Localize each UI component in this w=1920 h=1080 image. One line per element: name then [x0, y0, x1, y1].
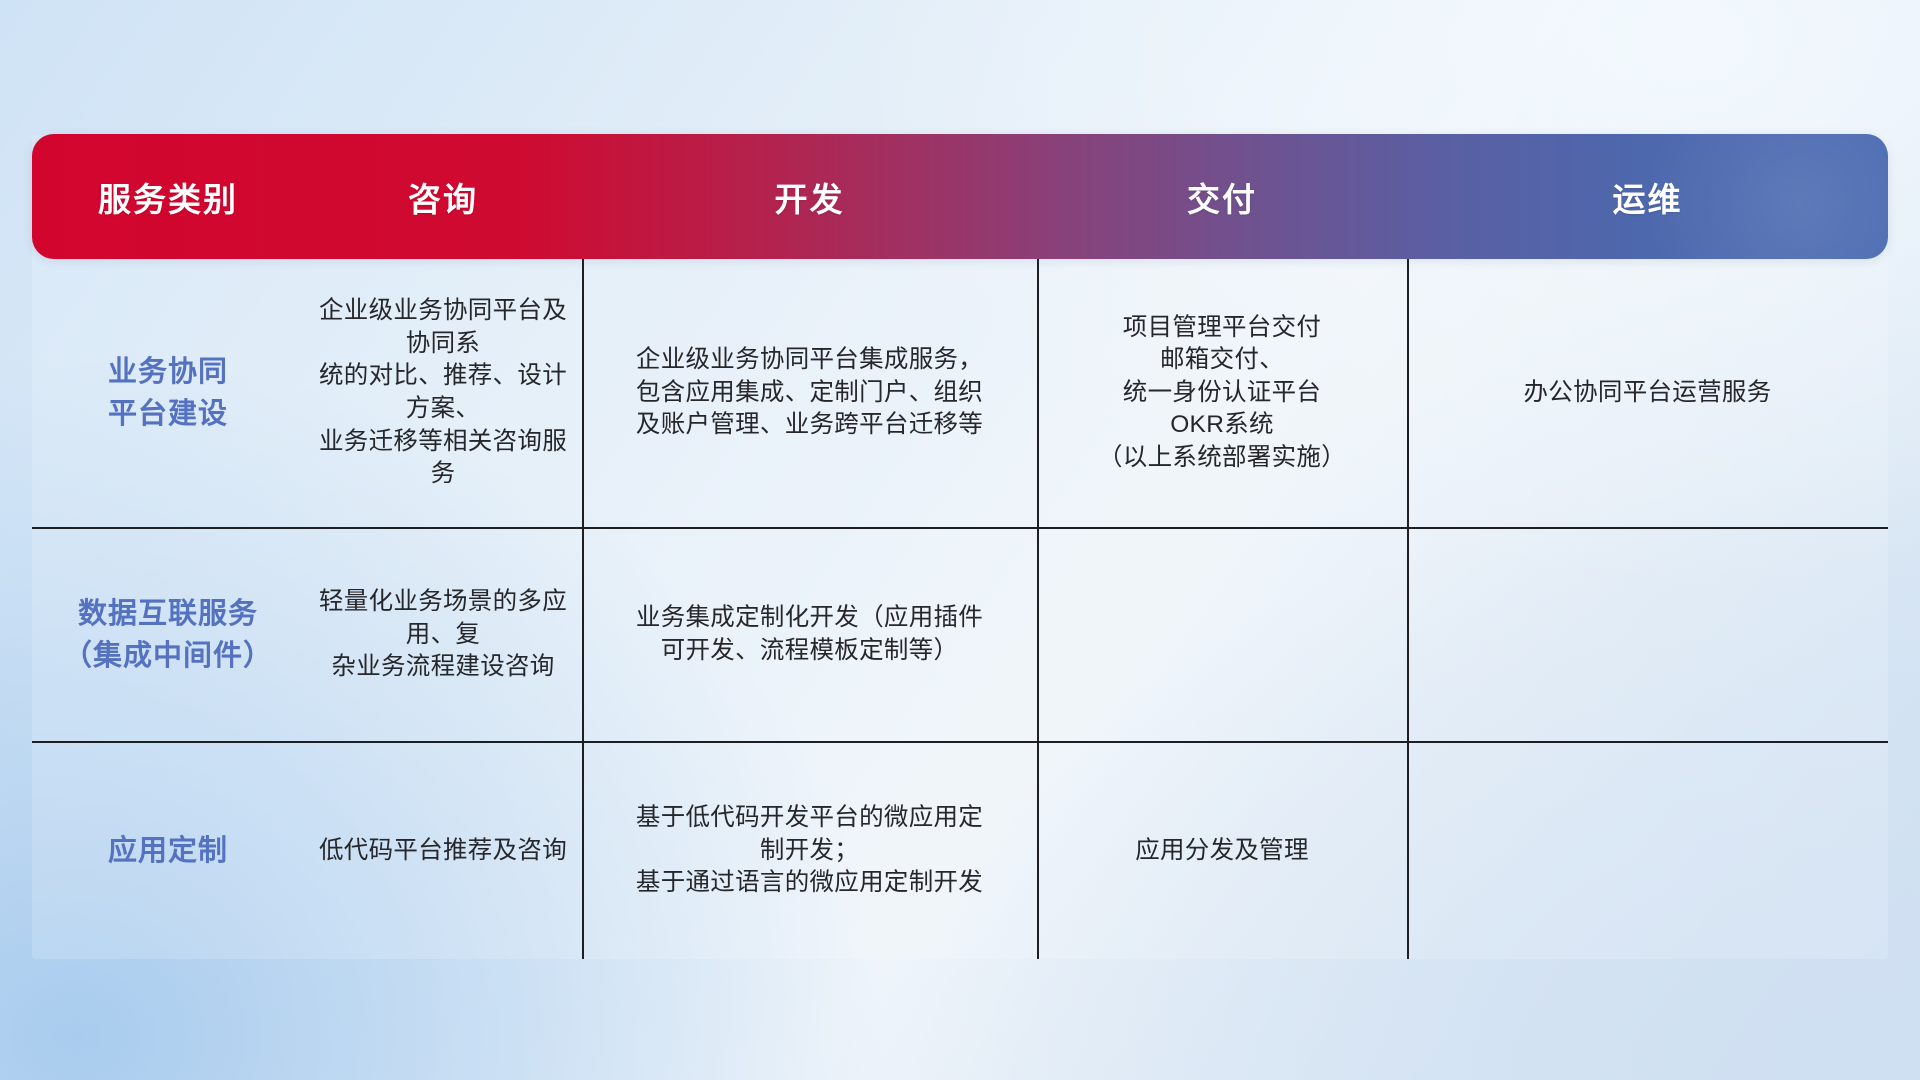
cell-row2-delivery: 应用分发及管理 [1037, 743, 1407, 959]
column-divider-consulting-development [582, 259, 584, 959]
column-header-operations: 运维 [1407, 173, 1888, 221]
cell-row0-development: 企业级业务协同平台集成服务， 包含应用集成、定制门户、组织 及账户管理、业务跨平… [582, 259, 1037, 527]
cell-row0-consulting: 企业级业务协同平台及协同系 统的对比、推荐、设计方案、 业务迁移等相关咨询服务 [304, 259, 582, 527]
row-label-app-customization: 应用定制 [32, 743, 304, 959]
column-header-development: 开发 [582, 173, 1037, 221]
service-matrix-table: 服务类别 咨询 开发 交付 运维 业务协同 平台建设 企业级业务协同平台及协同系… [32, 134, 1888, 959]
row-label-data-integration: 数据互联服务 （集成中间件） [32, 529, 304, 741]
column-header-delivery: 交付 [1037, 173, 1407, 221]
row-label-business-collaboration: 业务协同 平台建设 [32, 259, 304, 527]
column-divider-delivery-operations [1407, 259, 1409, 959]
cell-row1-operations [1407, 529, 1888, 741]
table-row: 业务协同 平台建设 企业级业务协同平台及协同系 统的对比、推荐、设计方案、 业务… [32, 259, 1888, 527]
cell-row2-development: 基于低代码开发平台的微应用定 制开发； 基于通过语言的微应用定制开发 [582, 743, 1037, 959]
cell-row1-development: 业务集成定制化开发（应用插件 可开发、流程模板定制等） [582, 529, 1037, 741]
cell-row0-operations: 办公协同平台运营服务 [1407, 259, 1888, 527]
column-divider-development-delivery [1037, 259, 1039, 959]
table-header-row: 服务类别 咨询 开发 交付 运维 [32, 134, 1888, 259]
table-body: 业务协同 平台建设 企业级业务协同平台及协同系 统的对比、推荐、设计方案、 业务… [32, 259, 1888, 959]
slide-canvas: 服务类别 咨询 开发 交付 运维 业务协同 平台建设 企业级业务协同平台及协同系… [0, 0, 1920, 1080]
cell-row1-consulting: 轻量化业务场景的多应用、复 杂业务流程建设咨询 [304, 529, 582, 741]
cell-row0-delivery: 项目管理平台交付 邮箱交付、 统一身份认证平台 OKR系统 （以上系统部署实施） [1037, 259, 1407, 527]
cell-row1-delivery [1037, 529, 1407, 741]
column-header-category: 服务类别 [32, 173, 304, 221]
table-row: 应用定制 低代码平台推荐及咨询 基于低代码开发平台的微应用定 制开发； 基于通过… [32, 743, 1888, 959]
table-row: 数据互联服务 （集成中间件） 轻量化业务场景的多应用、复 杂业务流程建设咨询 业… [32, 529, 1888, 741]
cell-row2-operations [1407, 743, 1888, 959]
column-header-consulting: 咨询 [304, 173, 582, 221]
cell-row2-consulting: 低代码平台推荐及咨询 [304, 743, 582, 959]
